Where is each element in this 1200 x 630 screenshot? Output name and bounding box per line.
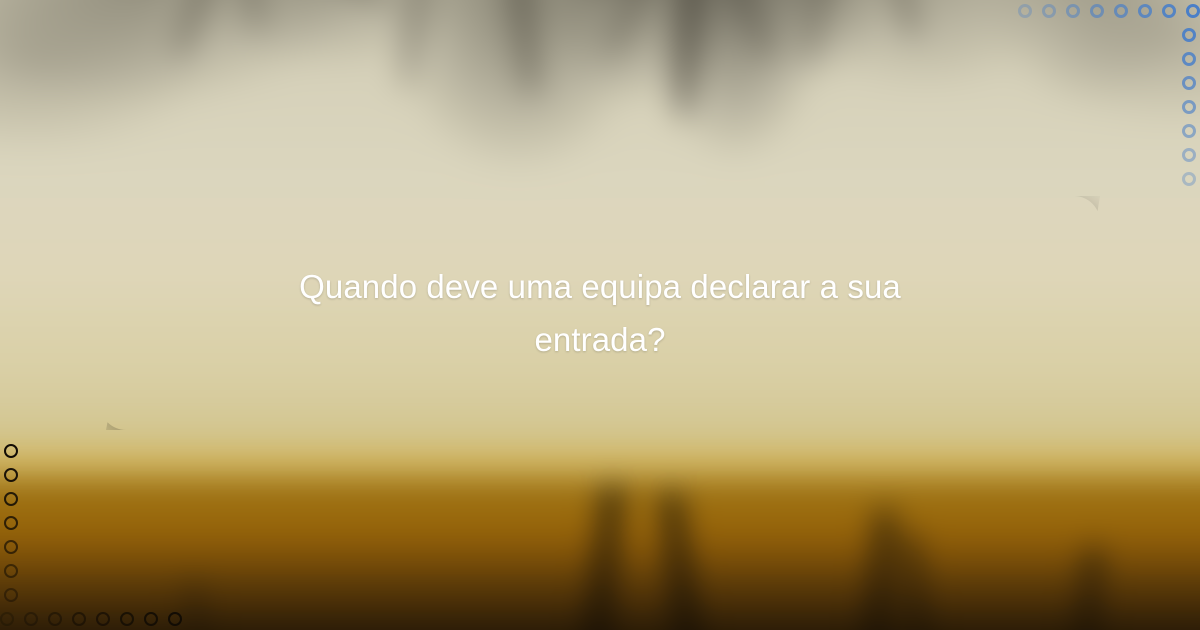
ring-cluster-top-right [990,0,1200,210]
decor-ring [1090,4,1104,18]
decor-ring [168,612,182,626]
decor-ring [1138,4,1152,18]
decor-ring [4,540,18,554]
decor-ring [144,612,158,626]
title-card: Quando deve uma equipa declarar a sua en… [100,196,1100,430]
decor-ring [1162,4,1176,18]
decor-ring [4,588,18,602]
decor-ring [1182,172,1196,186]
decor-ring [120,612,134,626]
decor-ring [1182,28,1196,42]
slide-canvas: Quando deve uma equipa declarar a sua en… [0,0,1200,630]
decor-ring [1114,4,1128,18]
ring-cluster-bottom-left [0,420,210,630]
decor-ring [0,612,14,626]
decor-ring [1186,4,1200,18]
decor-ring [4,516,18,530]
decor-ring [1042,4,1056,18]
decor-ring [1066,4,1080,18]
decor-ring [24,612,38,626]
decor-ring [72,612,86,626]
decor-ring [96,612,110,626]
decor-ring [1018,4,1032,18]
decor-ring [4,468,18,482]
decor-ring [4,564,18,578]
slide-title: Quando deve uma equipa declarar a sua en… [210,260,990,367]
decor-ring [4,492,18,506]
decor-ring [48,612,62,626]
decor-ring [1182,52,1196,66]
decor-ring [4,444,18,458]
decor-ring [1182,76,1196,90]
decor-ring [1182,148,1196,162]
decor-ring [1182,100,1196,114]
decor-ring [1182,124,1196,138]
